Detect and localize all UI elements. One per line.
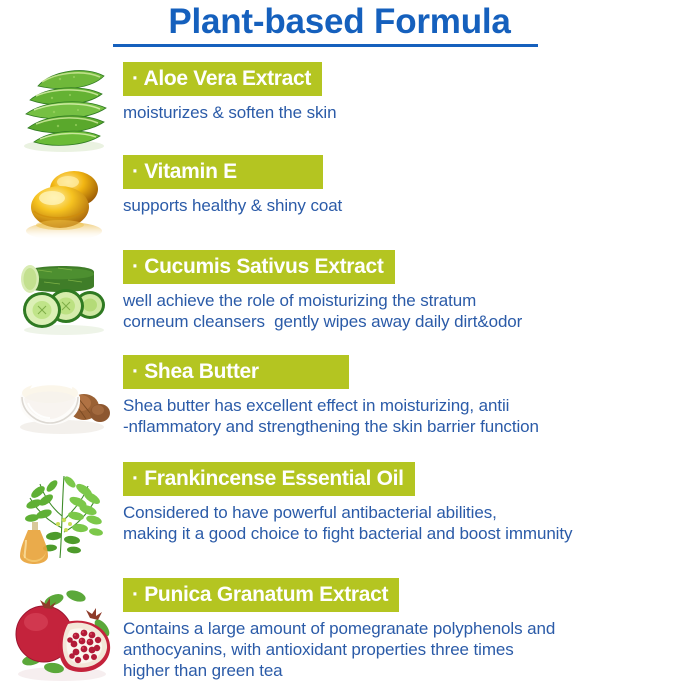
page-title: Plant-based Formula [0, 0, 679, 42]
ingredient-badge-cucumis-sativus: · Cucumis Sativus Extract [123, 250, 395, 284]
cucumber-slices-image [8, 250, 120, 342]
description-line: well achieve the role of moisturizing th… [123, 290, 673, 311]
description-line: anthocyanins, with antioxidant propertie… [123, 639, 673, 660]
title-underline [113, 44, 538, 47]
vitamin-e-softgel-capsules-image [8, 155, 120, 247]
ingredient-content-aloe-vera: · Aloe Vera Extract moisturizes & soften… [123, 62, 673, 123]
ingredient-description-shea-butter: Shea butter has excellent effect in mois… [123, 395, 673, 437]
description-line: -nflammatory and strengthening the skin … [123, 416, 673, 437]
shea-butter-bowl-image [8, 355, 120, 447]
description-line: Shea butter has excellent effect in mois… [123, 395, 673, 416]
ingredient-description-cucumis-sativus: well achieve the role of moisturizing th… [123, 290, 673, 332]
description-line: higher than green tea [123, 660, 673, 681]
ingredient-content-shea-butter: · Shea Butter Shea butter has excellent … [123, 355, 673, 437]
pomegranate-fruit-image [8, 578, 120, 690]
ingredient-description-frankincense: Considered to have powerful antibacteria… [123, 502, 673, 544]
ingredient-description-vitamin-e: supports healthy & shiny coat [123, 195, 673, 216]
ingredient-content-cucumis-sativus: · Cucumis Sativus Extract well achieve t… [123, 250, 673, 332]
ingredient-description-aloe-vera: moisturizes & soften the skin [123, 102, 673, 123]
ingredient-content-vitamin-e: · Vitamin E supports healthy & shiny coa… [123, 155, 673, 216]
description-line: Considered to have powerful antibacteria… [123, 502, 673, 523]
title-block: Plant-based Formula [0, 0, 679, 42]
frankincense-plant-oil-image [8, 462, 120, 570]
description-line: Contains a large amount of pomegranate p… [123, 618, 673, 639]
description-line: corneum cleansers gently wipes away dail… [123, 311, 673, 332]
description-line: moisturizes & soften the skin [123, 102, 673, 123]
ingredient-content-punica-granatum: · Punica Granatum Extract Contains a lar… [123, 578, 673, 681]
ingredient-badge-frankincense: · Frankincense Essential Oil [123, 462, 415, 496]
ingredient-description-punica-granatum: Contains a large amount of pomegranate p… [123, 618, 673, 681]
ingredient-badge-shea-butter: · Shea Butter [123, 355, 349, 389]
description-line: supports healthy & shiny coat [123, 195, 673, 216]
aloe-vera-slices-image [8, 62, 120, 154]
ingredient-content-frankincense: · Frankincense Essential Oil Considered … [123, 462, 673, 544]
ingredient-badge-punica-granatum: · Punica Granatum Extract [123, 578, 399, 612]
ingredient-badge-vitamin-e: · Vitamin E [123, 155, 323, 189]
ingredient-badge-aloe-vera: · Aloe Vera Extract [123, 62, 322, 96]
description-line: making it a good choice to fight bacteri… [123, 523, 673, 544]
